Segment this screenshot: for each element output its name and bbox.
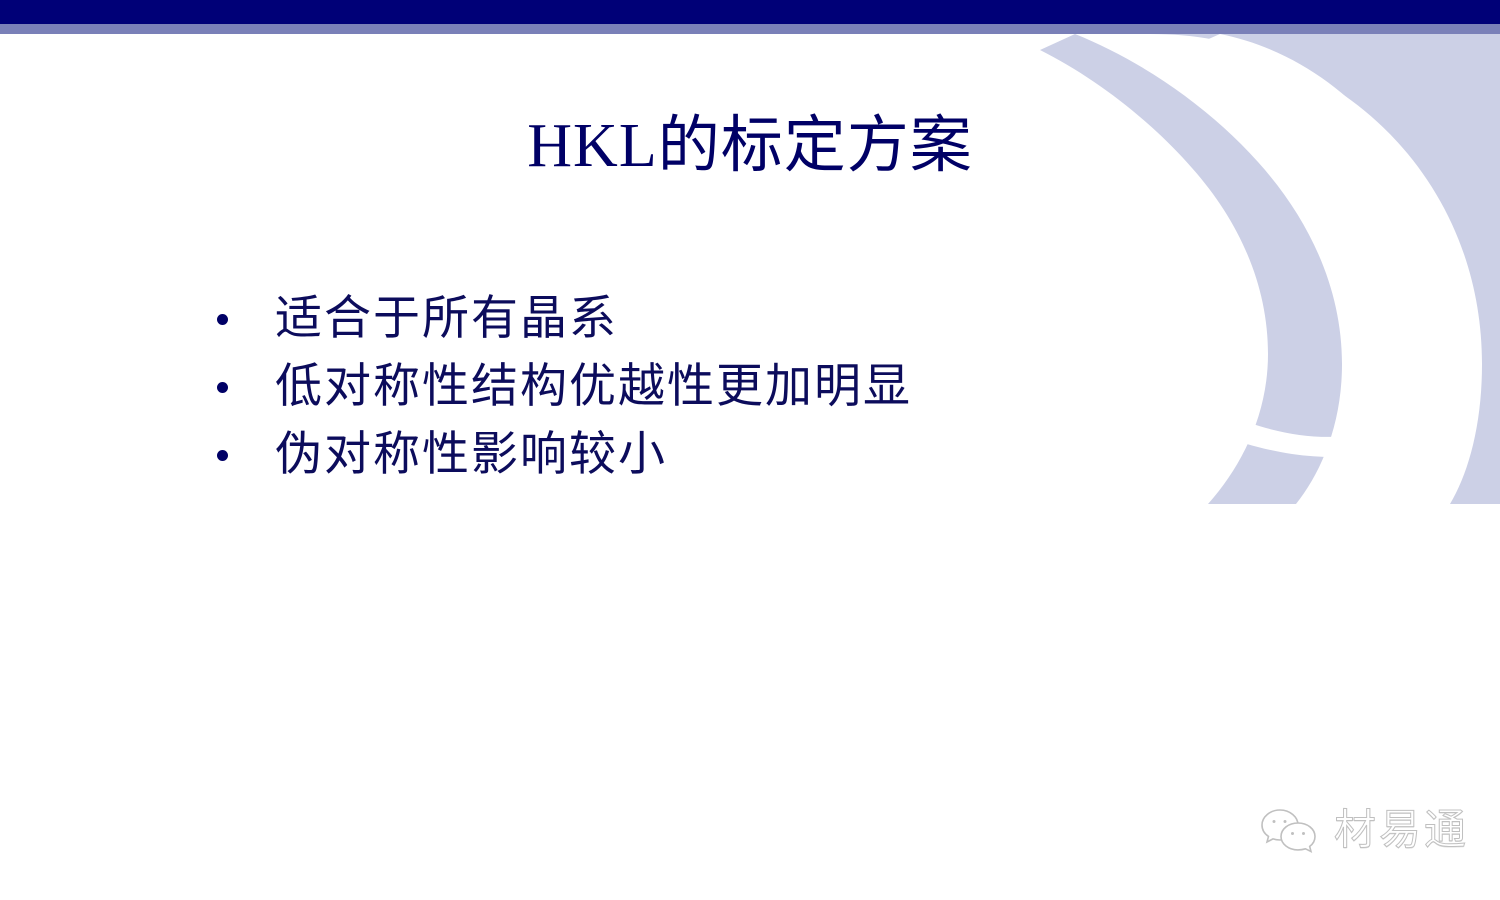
top-accent-bar-dark bbox=[0, 0, 1500, 24]
list-item: 伪对称性影响较小 bbox=[205, 421, 1205, 489]
bullet-list: 适合于所有晶系 低对称性结构优越性更加明显 伪对称性影响较小 bbox=[205, 285, 1205, 489]
bullet-point-icon bbox=[205, 450, 257, 461]
slide-canvas: HKL的标定方案 适合于所有晶系 低对称性结构优越性更加明显 伪对称性影响较小 bbox=[0, 0, 1500, 900]
list-item: 适合于所有晶系 bbox=[205, 285, 1205, 353]
bullet-point-icon bbox=[205, 314, 257, 325]
list-item-label: 低对称性结构优越性更加明显 bbox=[257, 359, 912, 415]
watermark: 材易通 bbox=[1258, 806, 1469, 856]
page-title: HKL的标定方案 bbox=[0, 110, 1500, 182]
top-accent-bar-light bbox=[0, 24, 1500, 34]
list-item-label: 伪对称性影响较小 bbox=[257, 427, 667, 483]
bullet-point-icon bbox=[205, 382, 257, 393]
watermark-label: 材易通 bbox=[1334, 807, 1469, 855]
wechat-icon bbox=[1258, 806, 1322, 856]
list-item-label: 适合于所有晶系 bbox=[257, 291, 618, 347]
list-item: 低对称性结构优越性更加明显 bbox=[205, 353, 1205, 421]
